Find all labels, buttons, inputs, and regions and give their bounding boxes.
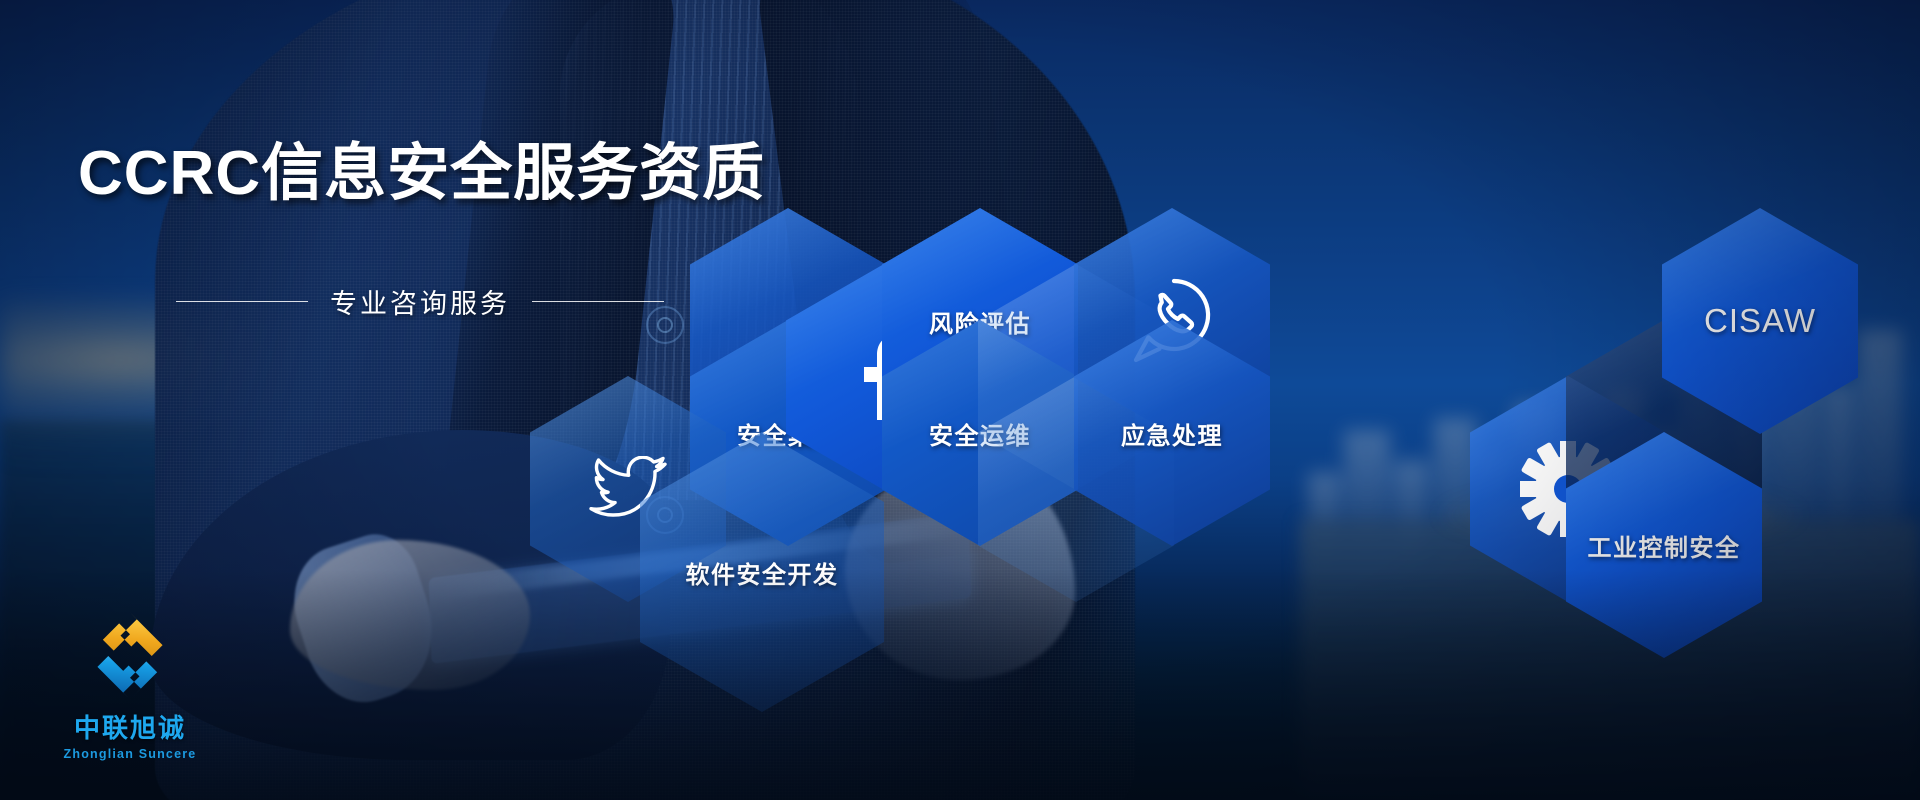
logo-english-name: Zhonglian Suncere [50,747,210,761]
zhonglian-suncere-diamond-logo [82,608,178,704]
subtitle-rule-right [532,301,664,302]
page-subtitle: 专业咨询服务 [330,282,510,321]
hexagon-grid: 安全集成风险评估安全运维软件安全开发应急处理CISAW工业控制安全 [0,0,1920,800]
hex-emergency-response-label: 应急处理 [1121,416,1223,451]
company-logo[interactable]: 中联旭诚 Zhonglian Suncere [50,608,210,761]
hex-software-security-dev-label: 软件安全开发 [686,555,839,590]
hex-cisaw-label: CISAW [1704,302,1816,340]
subtitle-rule-left [176,301,308,302]
subtitle-row: 专业咨询服务 [176,282,664,321]
hex-industrial-control-security-label: 工业控制安全 [1588,528,1741,563]
banner-stage: 安全集成风险评估安全运维软件安全开发应急处理CISAW工业控制安全 CCRC信息… [0,0,1920,800]
logo-chinese-name: 中联旭诚 [50,708,210,745]
page-title: CCRC信息安全服务资质 [78,122,765,212]
